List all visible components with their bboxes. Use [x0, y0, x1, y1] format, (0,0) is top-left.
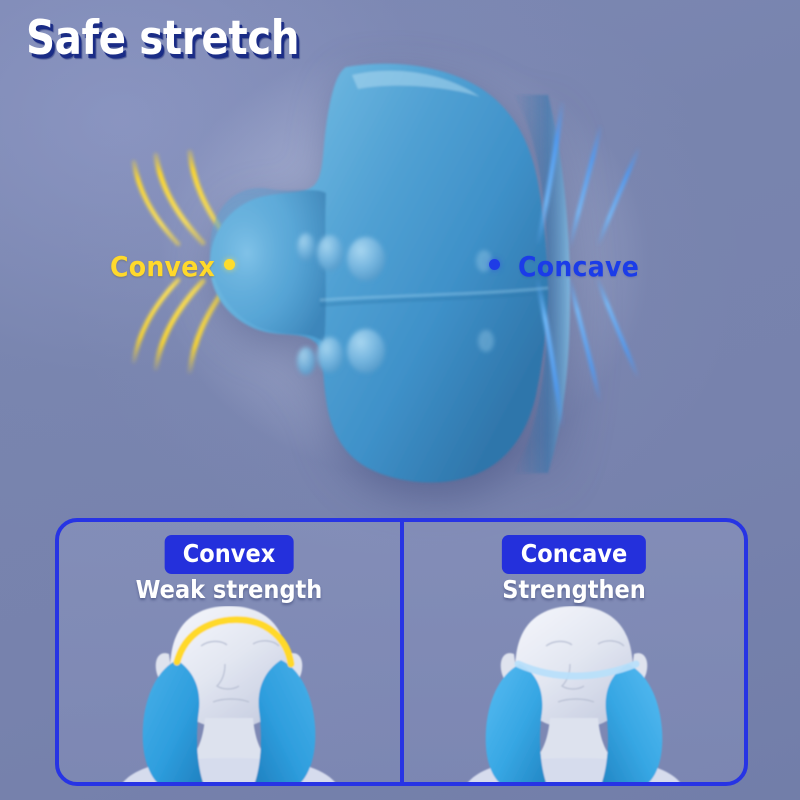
concave-badge-label: Concave — [521, 541, 627, 566]
convex-callout-label: Convex — [110, 250, 215, 283]
comparison-panel-convex: Convex Weak strength — [59, 522, 400, 782]
convex-badge: Convex — [165, 535, 294, 574]
comparison-panel-concave: Concave Strengthen — [404, 522, 745, 782]
concave-sublabel: Strengthen — [494, 576, 653, 604]
concave-badge: Concave — [502, 535, 646, 574]
mannequin-figure-concave — [424, 606, 724, 782]
convex-badge-label: Convex — [183, 541, 275, 566]
concave-marker-dot — [489, 259, 500, 270]
comparison-panel: Convex Weak strength — [55, 518, 748, 786]
product-image-canvas: Safe stretch — [0, 0, 800, 800]
mannequin-figure-convex — [79, 606, 379, 782]
concave-callout-label: Concave — [518, 250, 639, 283]
convex-sublabel: Weak strength — [126, 576, 333, 604]
convex-marker-dot — [224, 259, 235, 270]
